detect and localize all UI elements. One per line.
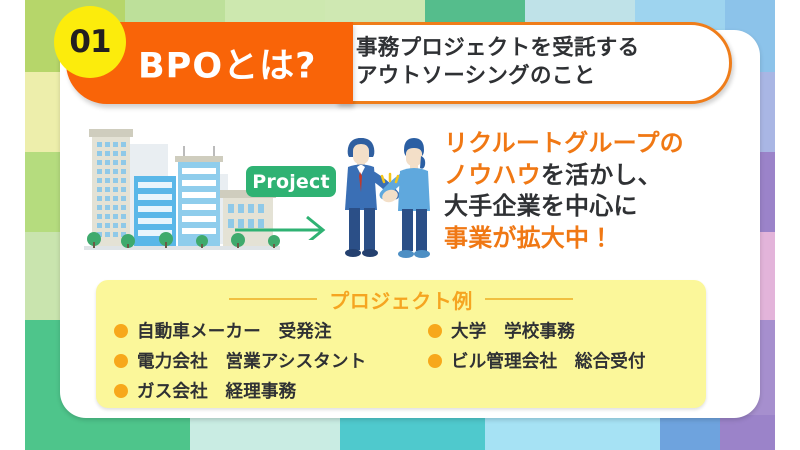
handshake-people-icon (326, 126, 446, 271)
project-badge: Project (246, 166, 336, 197)
list-item-label: 大学 学校事務 (451, 318, 575, 343)
project-examples-box: プロジェクト例 自動車メーカー 受発注 電力会社 営業アシスタント ガス会社 経… (96, 280, 706, 408)
project-examples-title: プロジェクト例 (96, 286, 706, 312)
list-item-label: ガス会社 経理事務 (137, 378, 296, 403)
list-item-label: 電力会社 営業アシスタント (137, 348, 366, 373)
promo-copy-line-3: 大手企業を中心に (444, 191, 684, 223)
bullet-dot-icon (114, 384, 128, 398)
bullet-dot-icon (428, 354, 442, 368)
section-number-badge: 01 (54, 6, 126, 78)
page-title: BPOとは? (138, 38, 316, 89)
promo-copy-line-2: ノウハウを活かし、 (444, 160, 684, 192)
background-tile (25, 415, 190, 450)
project-examples-title-label: プロジェクト例 (329, 285, 473, 314)
background-tile (660, 415, 720, 450)
page-subtitle: 事務プロジェクトを受託する アウトソーシングのこと (356, 35, 639, 92)
list-item: ビル管理会社 総合受付 (428, 346, 646, 375)
right-arrow-icon (233, 212, 338, 240)
list-item-label: ビル管理会社 総合受付 (451, 348, 646, 373)
bullet-dot-icon (114, 354, 128, 368)
section-header: 01 BPOとは? 事務プロジェクトを受託する アウトソーシングのこと (66, 22, 732, 104)
project-badge-label: Project (252, 171, 330, 193)
illustration-area: Project (78, 124, 448, 269)
bullet-dot-icon (428, 324, 442, 338)
promo-copy-line-1: リクルートグループの (444, 128, 684, 160)
background-tile (340, 415, 485, 450)
background-tile (190, 415, 340, 450)
promo-copy: リクルートグループの ノウハウを活かし、 大手企業を中心に 事業が拡大中！ (444, 128, 684, 255)
list-item: ガス会社 経理事務 (114, 376, 366, 405)
examples-left-column: 自動車メーカー 受発注 電力会社 営業アシスタント ガス会社 経理事務 (114, 316, 366, 406)
examples-right-column: 大学 学校事務 ビル管理会社 総合受付 (428, 316, 646, 376)
promo-copy-line-4: 事業が拡大中！ (444, 223, 684, 255)
list-item: 大学 学校事務 (428, 316, 646, 345)
title-rule-left (229, 298, 317, 300)
list-item: 自動車メーカー 受発注 (114, 316, 366, 345)
list-item-label: 自動車メーカー 受発注 (137, 318, 332, 343)
background-tile (485, 415, 660, 450)
bullet-dot-icon (114, 324, 128, 338)
title-rule-right (485, 298, 573, 300)
background-tile (720, 415, 775, 450)
list-item: 電力会社 営業アシスタント (114, 346, 366, 375)
